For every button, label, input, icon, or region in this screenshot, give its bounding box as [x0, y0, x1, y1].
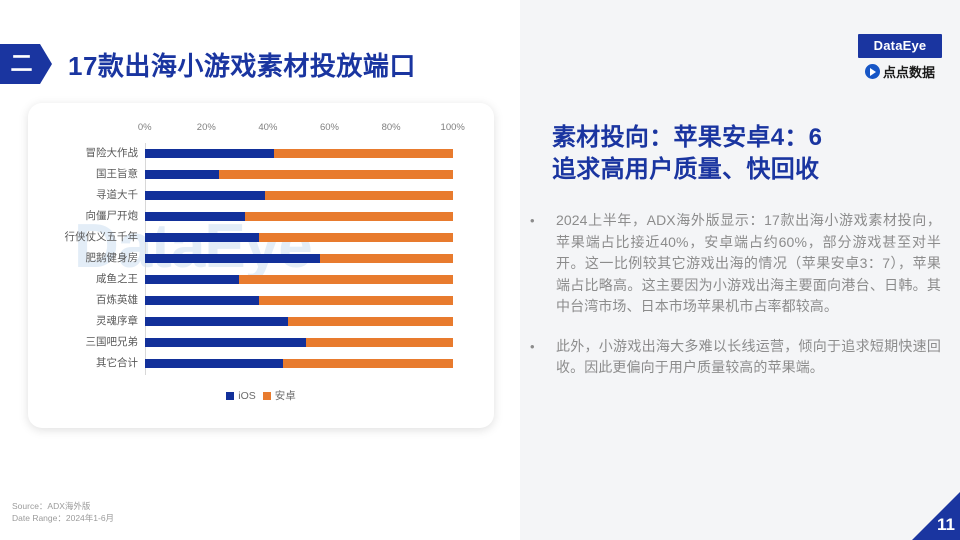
chart-row: 其它合计: [28, 353, 494, 374]
bar-segment-android: [274, 149, 453, 158]
legend-swatch: [263, 392, 271, 400]
chart-row: 向僵尸开炮: [28, 206, 494, 227]
category-label: 三国吧兄弟: [28, 332, 138, 353]
legend-label: 安卓: [275, 388, 296, 403]
x-axis-tick: 60%: [320, 122, 339, 133]
date-range-line: Date Range：2024年1-6月: [12, 512, 114, 524]
legend-item: 安卓: [263, 388, 296, 403]
stacked-bar: [145, 149, 453, 158]
bar-segment-android: [288, 317, 453, 326]
logo-brand-cn: 点点数据: [883, 62, 935, 81]
chart-row: 灵魂序章: [28, 311, 494, 332]
bar-segment-ios: [145, 212, 245, 221]
x-axis-tick: 0%: [138, 122, 152, 133]
stacked-bar: [145, 233, 453, 242]
x-axis-tick: 100%: [441, 122, 465, 133]
bullet-marker-icon: •: [526, 336, 556, 379]
category-label: 寻道大千: [28, 185, 138, 206]
chart-plot-area: 冒险大作战国王旨意寻道大千向僵尸开炮行侠仗义五千年肥鹅健身房咸鱼之王百炼英雄灵魂…: [28, 143, 494, 375]
stacked-bar: [145, 275, 453, 284]
legend-item: iOS: [226, 390, 256, 402]
insight-title-line-1: 素材投向：苹果安卓4：6: [552, 122, 952, 154]
x-axis-ticks: 0%20%40%60%80%100%: [28, 122, 494, 138]
category-label: 灵魂序章: [28, 311, 138, 332]
bar-segment-ios: [145, 233, 259, 242]
page-number: 11: [937, 516, 955, 533]
insight-bullet-text: 此外，小游戏出海大多难以长线运营，倾向于追求短期快速回收。因此更偏向于用户质量较…: [556, 336, 941, 379]
legend-label: iOS: [238, 390, 256, 402]
insight-bullet-list: •2024上半年，ADX海外版显示：17款出海小游戏素材投向，苹果端占比接近40…: [526, 210, 941, 397]
insight-title: 素材投向：苹果安卓4：6 追求高用户质量、快回收: [552, 122, 952, 186]
insight-bullet: •2024上半年，ADX海外版显示：17款出海小游戏素材投向，苹果端占比接近40…: [526, 210, 941, 318]
category-label: 咸鱼之王: [28, 269, 138, 290]
bar-segment-ios: [145, 170, 219, 179]
chart-row: 咸鱼之王: [28, 269, 494, 290]
section-number-text: 二: [10, 53, 41, 75]
bar-segment-android: [320, 254, 452, 263]
chart-row: 百炼英雄: [28, 290, 494, 311]
bar-segment-ios: [145, 275, 239, 284]
chart-row: 三国吧兄弟: [28, 332, 494, 353]
slide-header: 二 17款出海小游戏素材投放端口: [0, 42, 416, 86]
stacked-bar: [145, 170, 453, 179]
insight-title-line-2: 追求高用户质量、快回收: [552, 154, 952, 186]
bar-segment-ios: [145, 338, 307, 347]
bar-segment-ios: [145, 191, 265, 200]
insight-bullet-text: 2024上半年，ADX海外版显示：17款出海小游戏素材投向，苹果端占比接近40%…: [556, 210, 941, 318]
stacked-bar: [145, 359, 453, 368]
bar-segment-android: [306, 338, 452, 347]
chart-row: 冒险大作战: [28, 143, 494, 164]
category-label: 冒险大作战: [28, 143, 138, 164]
section-number-badge: 二: [0, 44, 52, 84]
stacked-bar-chart: 0%20%40%60%80%100% 冒险大作战国王旨意寻道大千向僵尸开炮行侠仗…: [28, 103, 494, 428]
stacked-bar: [145, 317, 453, 326]
bar-segment-ios: [145, 317, 288, 326]
bar-segment-android: [245, 212, 453, 221]
brand-logo: DataEye 点点数据: [858, 34, 942, 81]
category-label: 其它合计: [28, 353, 138, 374]
bar-segment-ios: [145, 254, 321, 263]
stacked-bar: [145, 296, 453, 305]
play-circle-icon: [865, 64, 880, 79]
insight-bullet: •此外，小游戏出海大多难以长线运营，倾向于追求短期快速回收。因此更偏向于用户质量…: [526, 336, 941, 379]
bar-segment-android: [259, 233, 453, 242]
bar-segment-android: [259, 296, 453, 305]
source-line: Source：ADX海外版: [12, 500, 114, 512]
page-title: 17款出海小游戏素材投放端口: [68, 46, 416, 83]
stacked-bar: [145, 338, 453, 347]
bar-segment-ios: [145, 149, 274, 158]
chart-row: 行侠仗义五千年: [28, 227, 494, 248]
x-axis-tick: 80%: [382, 122, 401, 133]
bar-segment-android: [265, 191, 453, 200]
footer-source: Source：ADX海外版 Date Range：2024年1-6月: [12, 500, 114, 524]
category-label: 向僵尸开炮: [28, 206, 138, 227]
category-label: 百炼英雄: [28, 290, 138, 311]
category-label: 国王旨意: [28, 164, 138, 185]
chart-card: DataEye 0%20%40%60%80%100% 冒险大作战国王旨意寻道大千…: [28, 103, 494, 428]
bullet-marker-icon: •: [526, 210, 556, 318]
bar-segment-android: [283, 359, 452, 368]
bar-segment-android: [219, 170, 453, 179]
chart-row: 寻道大千: [28, 185, 494, 206]
bar-segment-ios: [145, 296, 259, 305]
bar-segment-android: [239, 275, 453, 284]
category-label: 行侠仗义五千年: [28, 227, 138, 248]
stacked-bar: [145, 254, 453, 263]
chart-row: 国王旨意: [28, 164, 494, 185]
x-axis-tick: 20%: [197, 122, 216, 133]
stacked-bar: [145, 191, 453, 200]
bar-segment-ios: [145, 359, 284, 368]
chart-legend: iOS安卓: [28, 388, 494, 403]
logo-brand-en: DataEye: [858, 34, 942, 58]
chart-row: 肥鹅健身房: [28, 248, 494, 269]
x-axis-tick: 40%: [258, 122, 277, 133]
stacked-bar: [145, 212, 453, 221]
logo-brand-cn-row: 点点数据: [858, 62, 942, 81]
legend-swatch: [226, 392, 234, 400]
category-label: 肥鹅健身房: [28, 248, 138, 269]
